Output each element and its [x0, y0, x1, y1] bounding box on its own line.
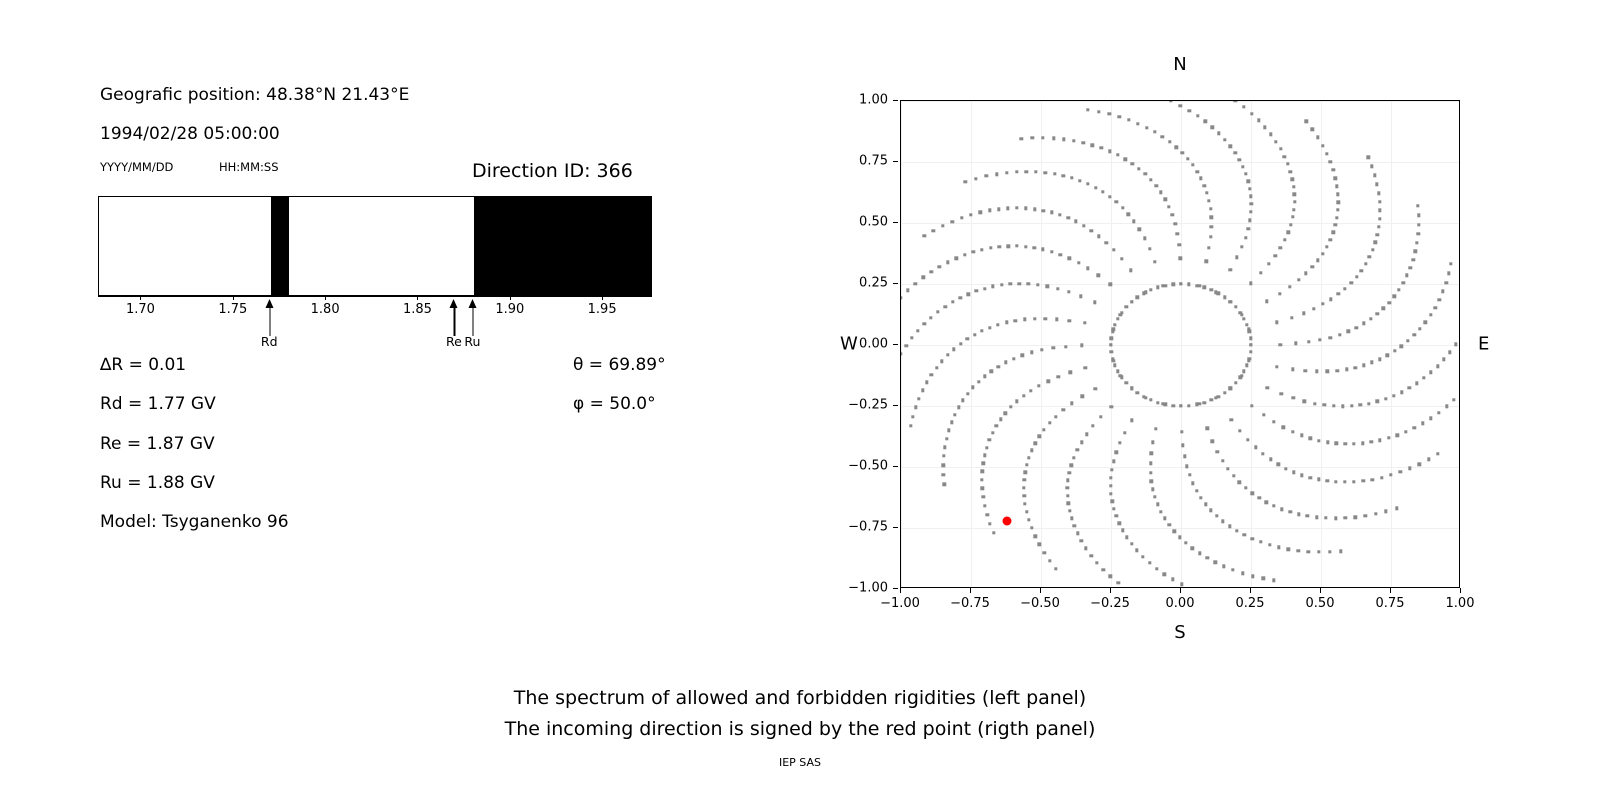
direction-dot	[1085, 433, 1088, 436]
direction-dot	[1204, 120, 1207, 123]
direction-dot	[1387, 436, 1390, 439]
direction-dot	[1171, 404, 1174, 407]
gridline-horizontal	[901, 223, 1459, 224]
direction-dot	[909, 424, 912, 427]
direction-dot	[1086, 267, 1089, 270]
direction-dot	[923, 234, 926, 237]
direction-dot	[1191, 163, 1194, 166]
direction-dot	[1131, 162, 1134, 165]
direction-dot	[1387, 301, 1390, 304]
direction-dot	[1112, 460, 1115, 463]
direction-dot	[1038, 543, 1041, 546]
y-axis-tick	[893, 283, 898, 284]
direction-dot	[1286, 231, 1289, 234]
direction-dot	[1082, 141, 1085, 144]
direction-dot	[1337, 292, 1340, 295]
direction-dot	[1143, 172, 1146, 175]
direction-dot	[1023, 502, 1026, 505]
spectrum-x-tick	[417, 296, 418, 300]
caption-line-1: The spectrum of allowed and forbidden ri…	[0, 687, 1600, 709]
direction-dot	[973, 333, 976, 336]
direction-dot	[1304, 120, 1307, 123]
direction-dot	[1329, 160, 1332, 163]
x-axis-tick-label: −0.25	[1090, 596, 1130, 611]
direction-dot	[1261, 452, 1264, 455]
direction-dot	[1235, 256, 1238, 259]
spectrum-x-tick	[510, 296, 511, 300]
direction-dot	[1336, 193, 1339, 196]
direction-dot	[1114, 514, 1117, 517]
direction-dot	[932, 229, 935, 232]
direction-dot	[1248, 187, 1251, 190]
direction-dot	[1325, 152, 1328, 155]
direction-dot	[1000, 283, 1003, 286]
direction-dot	[1318, 338, 1321, 341]
direction-dot	[1179, 404, 1182, 407]
direction-dot	[1068, 257, 1071, 260]
direction-dot	[1336, 208, 1339, 211]
direction-dot	[1091, 143, 1094, 146]
direction-dot	[1240, 245, 1243, 248]
direction-dot	[1097, 110, 1100, 113]
direction-dot	[911, 415, 914, 418]
spectrum-x-tick-label: 1.90	[495, 302, 524, 317]
direction-dot	[1371, 478, 1374, 481]
direction-dot	[936, 310, 939, 313]
direction-dot	[1091, 424, 1094, 427]
direction-dot	[950, 220, 953, 223]
direction-dot	[1338, 333, 1341, 336]
x-axis-tick	[1110, 588, 1111, 593]
footer-credit: IEP SAS	[0, 756, 1600, 769]
direction-dot	[951, 300, 954, 303]
direction-dot	[1378, 209, 1381, 212]
direction-dot	[983, 375, 986, 378]
direction-id-label: Direction ID: 366	[472, 160, 633, 182]
direction-dot	[1038, 435, 1041, 438]
direction-dot	[1275, 320, 1278, 323]
direction-dot	[1248, 357, 1251, 360]
direction-dot	[1248, 218, 1251, 221]
gridline-vertical	[901, 101, 902, 587]
direction-dot	[1374, 241, 1377, 244]
direction-dot	[1413, 333, 1416, 336]
direction-dot	[1331, 231, 1334, 234]
direction-dot	[1130, 542, 1133, 545]
direction-dot	[1176, 232, 1179, 235]
direction-dot	[1185, 465, 1188, 468]
direction-dot	[1361, 479, 1364, 482]
direction-dot	[953, 413, 956, 416]
direction-dot	[954, 257, 957, 260]
direction-dot	[1339, 550, 1342, 553]
direction-dot	[1086, 108, 1089, 111]
direction-dot	[1110, 350, 1113, 353]
direction-dot	[945, 437, 948, 440]
direction-dot	[963, 253, 966, 256]
direction-dot	[1127, 118, 1130, 121]
direction-dot	[1084, 366, 1087, 369]
direction-dot	[1352, 442, 1355, 445]
direction-dot	[1249, 336, 1252, 339]
direction-dot	[1112, 507, 1115, 510]
direction-dot	[1307, 550, 1310, 553]
direction-dot	[1199, 496, 1202, 499]
direction-dot	[1308, 476, 1311, 479]
direction-dot	[1377, 225, 1380, 228]
direction-dot	[967, 292, 970, 295]
direction-dot	[1113, 363, 1116, 366]
direction-dot	[1015, 400, 1018, 403]
direction-dot	[1154, 427, 1157, 430]
direction-dot	[1217, 132, 1220, 135]
direction-dot	[961, 399, 964, 402]
direction-dot	[1265, 300, 1268, 303]
direction-dot	[1027, 518, 1030, 521]
direction-dot	[1321, 252, 1324, 255]
direction-dot	[1195, 403, 1198, 406]
x-axis-tick-label: 0.00	[1166, 596, 1195, 611]
direction-dot	[1150, 452, 1153, 455]
direction-dot	[1234, 305, 1237, 308]
direction-dot	[1179, 257, 1182, 260]
direction-dot	[1332, 404, 1335, 407]
direction-dot	[1022, 486, 1025, 489]
direction-dot	[1267, 262, 1270, 265]
direction-dot	[1311, 128, 1314, 131]
gridline-vertical	[1391, 101, 1392, 587]
direction-dot	[1386, 354, 1389, 357]
param-model: Model: Tsyganenko 96	[100, 512, 289, 532]
direction-dot	[1168, 140, 1171, 143]
direction-dot	[1245, 363, 1248, 366]
direction-dot	[1137, 167, 1140, 170]
direction-dot	[942, 473, 945, 476]
direction-dot	[1116, 153, 1119, 156]
spectrum-marker-label: Re	[446, 334, 462, 349]
direction-dot	[1376, 233, 1379, 236]
direction-dot	[1376, 312, 1379, 315]
direction-dot	[1292, 185, 1295, 188]
gridline-horizontal	[901, 528, 1459, 529]
direction-dot	[1156, 401, 1159, 404]
direction-dot	[1250, 112, 1253, 115]
direction-dot	[1067, 502, 1070, 505]
direction-dot	[1229, 386, 1232, 389]
direction-dot	[1187, 283, 1190, 286]
direction-dot	[1046, 285, 1049, 288]
direction-dot	[1279, 147, 1282, 150]
direction-dot	[1306, 514, 1309, 517]
direction-dot	[1117, 522, 1120, 525]
direction-dot	[1291, 368, 1294, 371]
direction-dot	[1009, 405, 1012, 408]
param-delta-r: ∆R = 0.01	[100, 355, 186, 375]
direction-dot	[1123, 157, 1126, 160]
direction-dot	[1343, 287, 1346, 290]
gridline-vertical	[1041, 101, 1042, 587]
direction-dot	[1054, 567, 1057, 570]
direction-dot	[1309, 437, 1312, 440]
direction-dot	[1025, 170, 1028, 173]
direction-dot	[1110, 336, 1113, 339]
direction-dot	[1025, 463, 1028, 466]
direction-dot	[1251, 537, 1254, 540]
direction-dot	[1027, 282, 1030, 285]
direction-dot	[1246, 438, 1249, 441]
direction-dot	[1034, 170, 1037, 173]
direction-dot	[1070, 464, 1073, 467]
direction-dot	[1349, 281, 1352, 284]
direction-dot	[980, 329, 983, 332]
direction-dot	[1232, 474, 1235, 477]
direction-dot	[1205, 191, 1208, 194]
direction-dot	[1074, 220, 1077, 223]
direction-dot	[1378, 439, 1381, 442]
direction-dot	[947, 428, 950, 431]
spectrum-x-tick-label: 1.85	[403, 302, 432, 317]
direction-dot	[1234, 381, 1237, 384]
direction-dot	[1191, 481, 1194, 484]
direction-dot	[1291, 215, 1294, 218]
param-re: Re = 1.87 GV	[100, 434, 215, 454]
direction-dot	[1221, 459, 1224, 462]
direction-dot	[1429, 313, 1432, 316]
direction-dot	[1250, 404, 1253, 407]
direction-dot	[1123, 431, 1126, 434]
direction-dot	[1044, 171, 1047, 174]
direction-dot	[1289, 170, 1292, 173]
direction-dot	[1041, 248, 1044, 251]
direction-dot	[1297, 278, 1300, 281]
direction-dot	[995, 172, 998, 175]
direction-dot	[1304, 272, 1307, 275]
direction-dot	[1380, 476, 1383, 479]
direction-dot	[1202, 401, 1205, 404]
direction-dot	[1384, 397, 1387, 400]
direction-dot	[1229, 418, 1232, 421]
direction-dot	[1374, 512, 1377, 515]
direction-dot	[1269, 458, 1272, 461]
direction-dot	[1062, 408, 1065, 411]
direction-dot	[1171, 283, 1174, 286]
spectrum-x-tick-label: 1.80	[311, 302, 340, 317]
y-axis-tick	[893, 222, 898, 223]
direction-dot	[1209, 207, 1212, 210]
y-axis-tick	[893, 588, 898, 589]
direction-dot	[988, 522, 991, 525]
direction-dot	[1095, 561, 1098, 564]
direction-dot	[1251, 492, 1254, 495]
x-axis-tick-label: −0.50	[1020, 596, 1060, 611]
direction-dot	[1216, 450, 1219, 453]
direction-dot	[922, 276, 925, 279]
direction-dot	[1290, 316, 1293, 319]
direction-dot	[1414, 250, 1417, 253]
direction-dot	[1364, 514, 1367, 517]
direction-dot	[1181, 444, 1184, 447]
direction-dot	[1438, 298, 1441, 301]
y-axis-tick-label: 0.75	[859, 154, 888, 169]
direction-dot	[1077, 261, 1080, 264]
direction-dot	[1048, 559, 1051, 562]
direction-dot	[1105, 241, 1108, 244]
direction-dot	[1125, 381, 1128, 384]
direction-dot	[1241, 165, 1244, 168]
x-axis-tick-label: −1.00	[880, 596, 920, 611]
direction-dot	[1442, 358, 1445, 361]
x-axis-tick-label: 0.25	[1236, 596, 1265, 611]
direction-dot	[1046, 380, 1049, 383]
direction-dot	[1274, 254, 1277, 257]
spectrum-marker-label: Ru	[464, 334, 480, 349]
direction-dot	[1101, 190, 1104, 193]
direction-dot	[1168, 523, 1171, 526]
direction-dot	[1249, 195, 1252, 198]
direction-dot	[1111, 330, 1114, 333]
direction-dot	[1022, 494, 1025, 497]
direction-dot	[1239, 311, 1242, 314]
x-axis-tick-label: −0.75	[950, 596, 990, 611]
direction-dot	[1405, 274, 1408, 277]
direction-dot	[1251, 574, 1254, 577]
direction-dot	[1004, 411, 1007, 414]
direction-dot	[1345, 368, 1348, 371]
direction-dot	[1393, 295, 1396, 298]
direction-dot	[1286, 162, 1289, 165]
direction-dot	[1436, 364, 1439, 367]
direction-dot	[1155, 567, 1158, 570]
direction-dot	[983, 287, 986, 290]
direction-dot	[1221, 520, 1224, 523]
x-axis-tick	[1320, 588, 1321, 593]
direction-dot	[1316, 259, 1319, 262]
direction-dot	[1070, 402, 1073, 405]
direction-dot	[1246, 180, 1249, 183]
direction-dot	[1118, 115, 1121, 118]
direction-dot	[1211, 126, 1214, 129]
direction-dot	[1089, 554, 1092, 557]
direction-dot	[1242, 370, 1245, 373]
direction-dot	[1352, 480, 1355, 483]
param-ru: Ru = 1.88 GV	[100, 473, 215, 493]
datetime-label: 1994/02/28 05:00:00	[100, 124, 280, 144]
direction-dot	[1073, 524, 1076, 527]
direction-dot	[1376, 400, 1379, 403]
direction-dot	[1307, 340, 1310, 343]
direction-dot	[982, 461, 985, 464]
direction-dot	[1030, 526, 1033, 529]
direction-dot	[929, 316, 932, 319]
direction-dot	[1418, 327, 1421, 330]
direction-dot	[1326, 441, 1329, 444]
gridline-horizontal	[901, 467, 1459, 468]
direction-dot	[1399, 470, 1402, 473]
direction-dot	[1187, 404, 1190, 407]
direction-dot	[1149, 398, 1152, 401]
direction-dot	[1015, 170, 1018, 173]
direction-dot	[1052, 137, 1055, 140]
direction-dot	[1257, 119, 1260, 122]
direction-dot	[1068, 471, 1071, 474]
direction-dot	[1153, 130, 1156, 133]
direction-dot	[1024, 245, 1027, 248]
direction-dot	[1284, 467, 1287, 470]
direction-dot	[1422, 376, 1425, 379]
direction-dot	[1344, 516, 1347, 519]
direction-dot	[1244, 236, 1247, 239]
spectrum-x-tick-label: 1.95	[588, 302, 617, 317]
direction-dot	[1121, 529, 1124, 532]
direction-dot	[1199, 177, 1202, 180]
direction-dot	[944, 305, 947, 308]
direction-dot	[1062, 174, 1065, 177]
direction-dot	[1050, 250, 1053, 253]
direction-dot	[1033, 442, 1036, 445]
direction-dot	[1115, 451, 1118, 454]
direction-dot	[1209, 235, 1212, 238]
direction-dot	[1080, 344, 1083, 347]
direction-dot	[1279, 343, 1282, 346]
direction-dot	[1373, 174, 1376, 177]
direction-dot	[1244, 486, 1247, 489]
direction-dot	[1323, 403, 1326, 406]
direction-dot	[1006, 207, 1009, 210]
direction-dot	[941, 224, 944, 227]
direction-dot	[1272, 420, 1275, 423]
direction-dot	[1371, 248, 1374, 251]
direction-dot	[1370, 165, 1373, 168]
direction-dot	[1163, 517, 1166, 520]
direction-dot	[1396, 433, 1399, 436]
spectrum-x-tick-label: 1.70	[126, 302, 155, 317]
direction-dot	[1009, 282, 1012, 285]
x-axis-tick	[1250, 588, 1251, 593]
direction-dot	[1120, 311, 1123, 314]
direction-dot	[1449, 262, 1452, 265]
param-rd: Rd = 1.77 GV	[100, 394, 216, 414]
direction-dot	[1242, 317, 1245, 320]
direction-dot	[1367, 402, 1370, 405]
direction-dot	[996, 323, 999, 326]
direction-dot	[1359, 403, 1362, 406]
direction-dot	[1367, 155, 1370, 158]
x-axis-tick	[1040, 588, 1041, 593]
direction-dot	[1203, 184, 1206, 187]
direction-dot	[1279, 246, 1282, 249]
direction-dot	[1154, 184, 1157, 187]
direction-dot	[1109, 575, 1112, 578]
direction-dot	[983, 504, 986, 507]
direction-dot	[1294, 342, 1297, 345]
direction-dot	[1174, 145, 1177, 148]
direction-dot	[1042, 428, 1045, 431]
direction-dot	[1142, 395, 1145, 398]
direction-dot	[1097, 274, 1100, 277]
gridline-horizontal	[901, 345, 1459, 346]
direction-dot	[1005, 171, 1008, 174]
direction-dot	[1257, 496, 1260, 499]
direction-dot	[1153, 495, 1156, 498]
date-format-hint: YYYY/MM/DD	[100, 160, 173, 174]
direction-dot	[1205, 556, 1208, 559]
direction-dot	[1066, 494, 1069, 497]
direction-dot	[1164, 198, 1167, 201]
direction-dot	[988, 209, 991, 212]
direction-dot	[1130, 300, 1133, 303]
direction-dot	[1066, 216, 1069, 219]
rigidity-spectrum-bar	[98, 196, 652, 296]
